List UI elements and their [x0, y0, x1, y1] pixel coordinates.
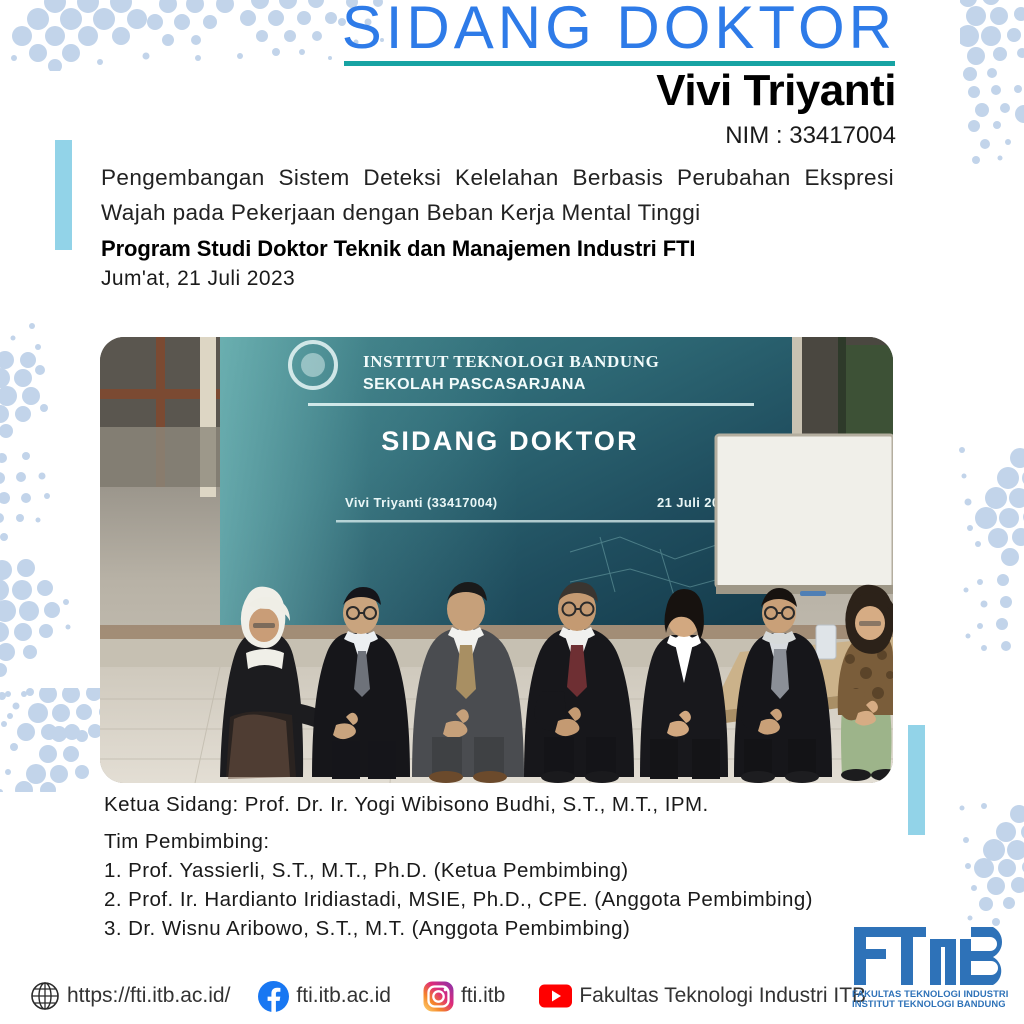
supervisor-item: 3. Dr. Wisnu Aribowo, S.T., M.T. (Anggot… [104, 914, 934, 943]
youtube-label: Fakultas Teknologi Industri ITB [579, 984, 866, 1008]
halftone-dots-right-middle [958, 440, 1024, 670]
supervisors-label: Tim Pembimbing: [104, 827, 934, 856]
poster-canvas: SIDANG DOKTOR Vivi Triyanti NIM : 334170… [0, 0, 1024, 1024]
page-title: SIDANG DOKTOR [342, 0, 896, 59]
accent-bar-left [55, 140, 72, 250]
supervisor-item: 2. Prof. Ir. Hardianto Iridiastadi, MSIE… [104, 885, 934, 914]
facebook-label: fti.itb.ac.id [296, 984, 391, 1008]
chair-of-session: Ketua Sidang: Prof. Dr. Ir. Yogi Wibison… [104, 790, 934, 819]
instagram-label: fti.itb [461, 984, 505, 1008]
committee-block: Ketua Sidang: Prof. Dr. Ir. Yogi Wibison… [104, 790, 934, 943]
youtube-link[interactable]: Fakultas Teknologi Industri ITB [539, 984, 866, 1008]
instagram-icon [423, 981, 454, 1012]
instagram-link[interactable]: fti.itb [423, 981, 505, 1012]
poster-header: SIDANG DOKTOR Vivi Triyanti NIM : 334170… [0, 0, 1024, 150]
thesis-title: Pengembangan Sistem Deteksi Kelelahan Be… [101, 160, 894, 230]
youtube-icon [539, 984, 572, 1008]
fti-itb-logo: FAKULTAS TEKNOLOGI INDUSTRI INSTITUT TEK… [852, 925, 1017, 1009]
student-nim: NIM : 33417004 [725, 122, 896, 150]
study-program: Program Studi Doktor Teknik dan Manajeme… [101, 235, 894, 263]
session-photo: INSTITUT TEKNOLOGI BANDUNG SEKOLAH PASCA… [100, 337, 893, 783]
svg-text:INSTITUT TEKNOLOGI BANDUNG: INSTITUT TEKNOLOGI BANDUNG [363, 352, 660, 371]
session-date: Jum'at, 21 Juli 2023 [101, 265, 894, 292]
svg-text:SEKOLAH PASCASARJANA: SEKOLAH PASCASARJANA [363, 376, 586, 393]
facebook-link[interactable]: fti.itb.ac.id [258, 981, 391, 1012]
student-name: Vivi Triyanti [656, 68, 896, 114]
halftone-dots-left-edge [0, 322, 110, 792]
website-label: https://fti.itb.ac.id/ [67, 984, 230, 1008]
thesis-info-block: Pengembangan Sistem Deteksi Kelelahan Be… [101, 160, 894, 292]
logo-tagline-2: INSTITUT TEKNOLOGI BANDUNG [852, 998, 1006, 1009]
halftone-dots-right-bottom [956, 800, 1024, 940]
svg-text:SIDANG DOKTOR: SIDANG DOKTOR [381, 426, 639, 456]
svg-text:Vivi Triyanti (33417004): Vivi Triyanti (33417004) [345, 495, 497, 510]
supervisor-item: 1. Prof. Yassierli, S.T., M.T., Ph.D. (K… [104, 856, 934, 885]
website-link[interactable]: https://fti.itb.ac.id/ [30, 981, 230, 1011]
facebook-icon [258, 981, 289, 1012]
globe-icon [30, 981, 60, 1011]
